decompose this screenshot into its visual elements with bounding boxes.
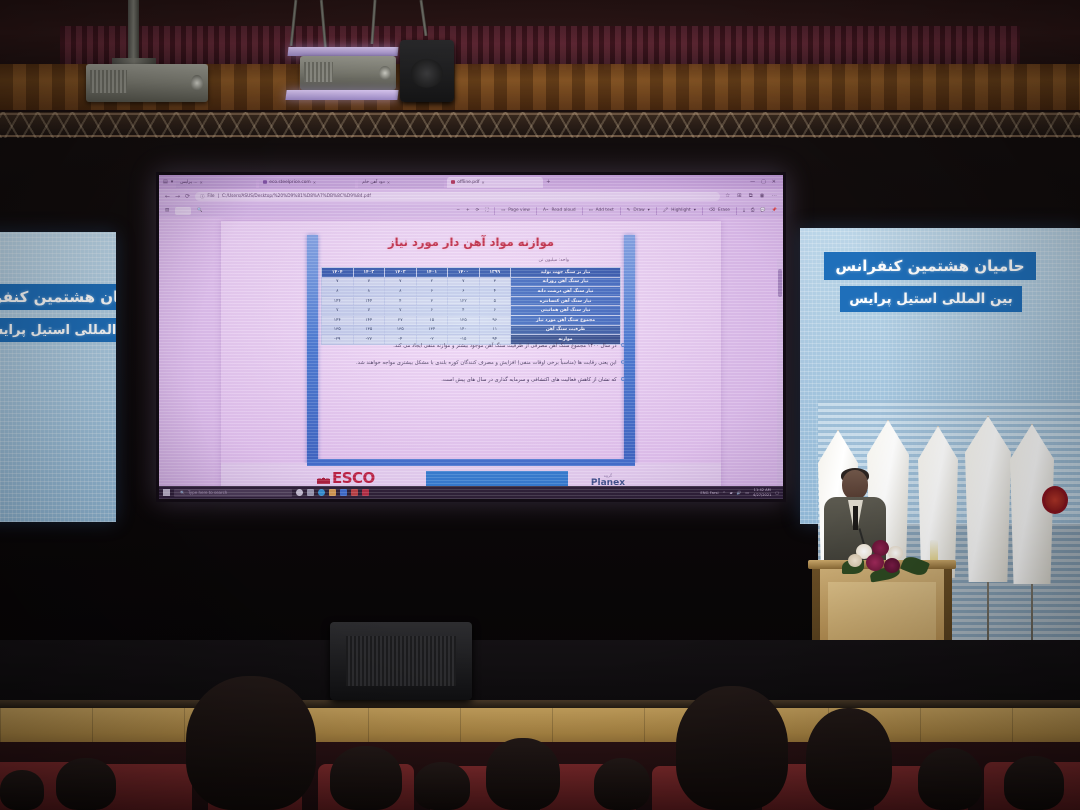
table-cell: ۱۲۵ — [448, 315, 480, 325]
table-cell: ۷ — [322, 306, 354, 316]
table-cell: ۱۴۴ — [322, 296, 354, 306]
flower-arrangement — [840, 538, 932, 580]
table-row-label: ظرفیت سنگ آهن — [511, 325, 621, 335]
tab-1-label: eco.steelprice.com — [269, 180, 310, 185]
highlight-icon: 🖍 — [663, 208, 668, 213]
bullet-text: در سال ۱۴۰۰ مجموع سنگ آهن مصرفی از ظرفیت… — [393, 341, 616, 351]
table-cell: ۱۲۲ — [448, 296, 480, 306]
page-view-label: Page view — [508, 208, 530, 213]
audience-head — [56, 758, 116, 810]
system-tray: ENG Farsi ^ ▰ 🔊 ▭ 11:42 AM 4/27/2021 ▢ — [700, 488, 779, 496]
tab-1-close-icon[interactable]: ✕ — [313, 180, 316, 185]
bullet-marker-icon — [621, 360, 625, 364]
window-menu-icon[interactable]: ▤ — [163, 179, 168, 185]
more-icon[interactable]: ⋯ — [772, 193, 778, 200]
pdf-erase-button[interactable]: ⌫ Erase — [709, 208, 730, 213]
table-cell: ۲۷ — [385, 315, 417, 325]
led-banner-left: حامیان هشتمین کنفرانس بین المللی استیل پ… — [0, 232, 116, 522]
pdf-page-number-input[interactable] — [175, 207, 191, 215]
stage-edge — [0, 700, 1080, 708]
table-cell: ۷ — [385, 277, 417, 287]
tab-3-label: offline.pdf — [457, 180, 479, 185]
taskbar-clock[interactable]: 11:42 AM 4/27/2021 — [753, 488, 771, 496]
audience-head — [0, 770, 44, 810]
tray-language-label[interactable]: ENG Farsi — [700, 490, 718, 495]
ceiling-projector-left — [86, 64, 208, 102]
url-text: C:/Users/ASUS/Desktop/%20%D9%81%D8%A7%DB… — [222, 194, 371, 199]
add-text-icon: ▭ — [589, 208, 593, 213]
pdf-rotate-button[interactable]: ⟳ — [476, 208, 480, 213]
pdf-toolbar: ▤ 🔍 − + ⟳ ⛶ ▭ Page view — [159, 204, 783, 217]
projected-desktop: ▤ ▾ پرایس ... ✕ eco.steelprice.com ✕ دود… — [159, 175, 783, 499]
windows-taskbar: 🔍 Type here to search ENG Farsi ^ ▰ 🔊 ▭ — [159, 486, 783, 499]
audience-head — [918, 748, 982, 810]
slide-footer-accent — [307, 459, 635, 466]
audience-head — [486, 738, 560, 810]
table-row-label: نیاز سنگ آهن کنسانتره — [511, 296, 621, 306]
table-cell: ۸ — [322, 287, 354, 297]
forward-button[interactable]: → — [175, 193, 180, 200]
table-cell: ۱۴۴ — [353, 296, 385, 306]
table-cell: ۷ — [448, 277, 480, 287]
url-input[interactable]: ⓘ File | C:/Users/ASUS/Desktop/%20%D9%81… — [195, 192, 720, 201]
led-banner-right-line2: بین المللی استیل پرایس — [840, 286, 1022, 312]
print-icon[interactable]: ⎙ — [751, 208, 754, 213]
extensions-icon[interactable]: ⧉ — [749, 193, 753, 200]
tab-2-close-icon[interactable]: ✕ — [387, 180, 390, 185]
chevron-up-icon[interactable]: ^ — [723, 490, 726, 495]
audience-head — [1004, 756, 1064, 810]
table-cell: ۷ — [353, 306, 385, 316]
file-info-icon: ⓘ — [200, 194, 204, 200]
bullet-marker-icon — [621, 377, 625, 381]
tab-0-label: پرایس ... — [180, 180, 197, 185]
address-bar-icons: ☆ ⊞ ⧉ ◉ ⋯ — [725, 193, 777, 200]
app-icon[interactable] — [351, 489, 358, 496]
browser-tab-1[interactable]: eco.steelprice.com ✕ — [259, 177, 355, 188]
table-cell: ۴ — [479, 287, 511, 297]
pdf-zoom-out-button[interactable]: − — [456, 208, 460, 213]
draw-chevron-down-icon[interactable]: ▾ — [648, 208, 650, 213]
table-row: نیاز سنگ آهن هماتیتی۶۴۶۷۷۷ — [322, 306, 621, 316]
table-cell: ۱۳۵ — [353, 325, 385, 335]
browser-tab-2[interactable]: دود آهن خام ✕ — [358, 177, 444, 188]
pin-icon[interactable]: 📌 — [772, 208, 777, 213]
slide-title: موازنه مواد آهن دار مورد نیاز — [221, 235, 721, 249]
table-header-row: نیاز بر سنگ جهت تولید۱۳۹۹۱۴۰۰۱۴۰۱۱۴۰۲۱۴۰… — [322, 268, 621, 278]
minimize-button[interactable]: — — [750, 179, 755, 185]
browser-tab-3[interactable]: offline.pdf ✕ — [447, 177, 543, 188]
esco-logo-text: ESCO — [332, 469, 375, 487]
maximize-button[interactable]: ▢ — [761, 179, 766, 185]
tab-3-favicon — [451, 180, 455, 184]
table-cell: ۷ — [385, 306, 417, 316]
pdf-add-text-button[interactable]: ▭ Add text — [589, 208, 614, 213]
read-aloud-label: Read aloud — [551, 208, 575, 213]
table-cell: ۷ — [353, 277, 385, 287]
search-input[interactable]: 🔍 Type here to search — [174, 489, 292, 497]
table-cell: ۳ — [479, 277, 511, 287]
audience-head — [330, 746, 402, 810]
table-cell: ۹۶ — [479, 315, 511, 325]
table-row-label: نیاز سنگ آهن هماتیتی — [511, 306, 621, 316]
floor-monitor-grille — [346, 636, 456, 686]
table-row: ظرفیت سنگ آهن۱۱۱۴۰۱۳۴۱۳۵۱۳۵۱۳۵ — [322, 325, 621, 335]
tab-1-favicon — [263, 180, 267, 184]
table-cell: ۴ — [385, 296, 417, 306]
table-row: نیاز سنگ آهن روزانه۳۷۲۷۷۷ — [322, 277, 621, 287]
pdf-sidebar-toggle-icon[interactable]: ▤ — [165, 208, 169, 213]
table-cell: ۴ — [448, 306, 480, 316]
profile-icon[interactable]: ◉ — [760, 193, 765, 200]
audience-head — [676, 686, 788, 810]
table-cell: ۲ — [416, 277, 448, 287]
explorer-icon[interactable] — [329, 489, 336, 496]
url-separator: | — [218, 194, 219, 199]
pdf-zoom-in-button[interactable]: + — [466, 208, 470, 213]
notifications-icon[interactable]: ▢ — [775, 490, 779, 495]
table-cell: ۱۵ — [416, 315, 448, 325]
highlight-label: Highlight — [671, 208, 690, 213]
ceiling-projector-right — [300, 56, 396, 90]
highlight-chevron-down-icon[interactable]: ▾ — [694, 208, 696, 213]
pdf-find-icon[interactable]: 🔍 — [197, 208, 202, 213]
draw-icon: ✎ — [627, 208, 631, 213]
store-icon[interactable] — [340, 489, 347, 496]
presentation-slide: موازنه مواد آهن دار مورد نیاز واحد: میلی… — [221, 221, 721, 499]
pdf-read-aloud-button[interactable]: A⌁ Read aloud — [543, 208, 576, 213]
table-row: نیاز سنگ آهن کنسانتره۵۱۲۲۳۴۱۴۴۱۴۴ — [322, 296, 621, 306]
read-aloud-icon: A⌁ — [543, 208, 549, 213]
crown-icon — [317, 473, 330, 484]
table-cell: ۸ — [385, 287, 417, 297]
table-cell: ۱۳۴ — [416, 325, 448, 335]
browser-tab-0[interactable]: پرایس ... ✕ — [176, 177, 256, 188]
audience-head — [806, 708, 892, 810]
table-header-year: ۱۴۰۱ — [416, 268, 448, 278]
table-row: مجموع سنگ آهن مورد نیاز۹۶۱۲۵۱۵۲۷۱۴۴۱۴۴ — [322, 315, 621, 325]
network-icon[interactable]: ▰ — [730, 490, 733, 495]
audience-head — [186, 676, 316, 810]
table-cell: ۱۴۴ — [353, 315, 385, 325]
slide-unit-note: واحد: میلیون تن — [539, 258, 570, 263]
table-cell: ۱۱ — [479, 325, 511, 335]
uv-light-bar-top — [288, 47, 399, 56]
comment-icon[interactable]: 💬 — [760, 208, 765, 213]
uv-light-bar-bottom — [285, 90, 398, 100]
close-button[interactable]: ✕ — [772, 179, 776, 185]
table-cell: ۱۳۵ — [322, 325, 354, 335]
tab-3-close-icon[interactable]: ✕ — [481, 180, 484, 185]
table-header-year: ۱۴۰۲ — [385, 268, 417, 278]
table-cell: ۱۳۵ — [385, 325, 417, 335]
led-banner-left-line1: حامیان هشتمین کنفرانس — [0, 284, 116, 310]
task-view-icon[interactable] — [307, 489, 314, 496]
clock-time: 11:42 AM — [753, 488, 771, 492]
hanging-loudspeaker — [400, 40, 454, 102]
table-header-year: ۱۴۰۰ — [448, 268, 480, 278]
tab-2-label: دود آهن خام — [362, 180, 384, 185]
table-row-label: نیاز سنگ آهن درشت دانه — [511, 287, 621, 297]
projection-screen: ▤ ▾ پرایس ... ✕ eco.steelprice.com ✕ دود… — [156, 172, 786, 502]
table-cell: ۶ — [448, 287, 480, 297]
scrollbar-thumb[interactable] — [778, 269, 782, 297]
iron-assoc-emblem — [1042, 486, 1068, 514]
pdf-icon[interactable] — [362, 489, 369, 496]
table-cell: ۵ — [479, 296, 511, 306]
battery-icon[interactable]: ▭ — [745, 490, 749, 495]
table-header-year: ۱۴۰۴ — [322, 268, 354, 278]
new-tab-button[interactable]: + — [546, 179, 550, 185]
pdf-fit-button[interactable]: ⛶ — [485, 208, 488, 213]
bullet-text: که نشان از کاهش فعالیت های اکتشافی و سرم… — [441, 375, 616, 385]
tab-search-icon[interactable]: ▾ — [171, 179, 174, 185]
browser-tabstrip: ▤ ▾ پرایس ... ✕ eco.steelprice.com ✕ دود… — [159, 175, 783, 189]
table-cell: ۱۴۰ — [448, 325, 480, 335]
reload-button[interactable]: ⟳ — [185, 193, 190, 200]
pdf-highlight-button[interactable]: 🖍 Highlight ▾ — [663, 208, 696, 213]
audience-head — [594, 758, 650, 810]
table-cell: ۳ — [416, 296, 448, 306]
search-placeholder: Type here to search — [188, 490, 227, 495]
table-header-label: نیاز بر سنگ جهت تولید — [511, 268, 621, 278]
presenter-head — [842, 470, 868, 500]
start-button-icon[interactable] — [163, 489, 170, 496]
slide-bullet-list: در سال ۱۴۰۰ مجموع سنگ آهن مصرفی از ظرفیت… — [317, 341, 625, 392]
table-header-year: ۱۴۰۳ — [353, 268, 385, 278]
table-cell: ۸ — [353, 287, 385, 297]
presenter-tie — [853, 506, 858, 530]
table-header-year: ۱۳۹۹ — [479, 268, 511, 278]
projector-mount-pole — [128, 0, 139, 62]
back-button[interactable]: ← — [165, 193, 170, 200]
bullet-marker-icon — [621, 343, 625, 347]
collections-icon[interactable]: ⊞ — [737, 193, 742, 200]
browser-window: ▤ ▾ پرایس ... ✕ eco.steelprice.com ✕ دود… — [159, 175, 783, 217]
search-icon: 🔍 — [180, 490, 185, 495]
favorite-icon[interactable]: ☆ — [725, 193, 730, 200]
list-item: این یعنی رقابت ها (مناسباً برخی اوقات من… — [317, 358, 625, 368]
cortana-icon[interactable] — [296, 489, 303, 496]
erase-label: Erase — [718, 208, 730, 213]
slide-accent-bar-right — [624, 235, 635, 481]
tab-0-close-icon[interactable]: ✕ — [200, 180, 203, 185]
audience-head — [414, 762, 470, 810]
list-item: در سال ۱۴۰۰ مجموع سنگ آهن مصرفی از ظرفیت… — [317, 341, 625, 351]
table-row: نیاز سنگ آهن درشت دانه۴۶۶۸۸۸ — [322, 287, 621, 297]
bullet-text: این یعنی رقابت ها (مناسباً برخی اوقات من… — [356, 358, 617, 368]
led-banner-right-line1: حامیان هشتمین کنفرانس — [824, 252, 1036, 280]
add-text-label: Add text — [596, 208, 614, 213]
table-row-label: نیاز سنگ آهن روزانه — [511, 277, 621, 287]
pdf-draw-button[interactable]: ✎ Draw ▾ — [627, 208, 650, 213]
save-icon[interactable]: ⤓ — [743, 208, 745, 213]
table-cell: ۷ — [322, 277, 354, 287]
pdf-page-viewport[interactable]: موازنه مواد آهن دار مورد نیاز واحد: میلی… — [159, 217, 783, 499]
list-item: که نشان از کاهش فعالیت های اکتشافی و سرم… — [317, 375, 625, 385]
esco-logo: ESCO — [317, 469, 375, 487]
draw-label: Draw — [633, 208, 644, 213]
lighting-truss — [0, 112, 1080, 138]
iron-balance-table: نیاز بر سنگ جهت تولید۱۳۹۹۱۴۰۰۱۴۰۱۱۴۰۲۱۴۰… — [321, 267, 621, 345]
window-controls: — ▢ ✕ — [750, 179, 779, 185]
browser-address-bar: ← → ⟳ ⓘ File | C:/Users/ASUS/Desktop/%20… — [159, 189, 783, 204]
erase-icon: ⌫ — [709, 208, 715, 213]
edge-icon[interactable] — [318, 489, 325, 496]
clock-date: 4/27/2021 — [753, 493, 771, 497]
table-cell: ۱۴۴ — [322, 315, 354, 325]
pdf-vertical-scrollbar[interactable] — [777, 259, 783, 492]
conference-photo: حامیان هشتمین کنفرانس بین المللی استیل پ… — [0, 0, 1080, 810]
table-row-label: مجموع سنگ آهن مورد نیاز — [511, 315, 621, 325]
page-view-icon: ▭ — [501, 208, 505, 213]
pdf-page-view-button[interactable]: ▭ Page view — [501, 208, 530, 213]
url-scheme-label: File — [207, 194, 214, 199]
volume-icon[interactable]: 🔊 — [737, 490, 742, 495]
table-cell: ۶ — [416, 306, 448, 316]
table-cell: ۶ — [479, 306, 511, 316]
led-banner-left-line2: بین المللی استیل پرایس — [0, 318, 116, 342]
table-cell: ۶ — [416, 287, 448, 297]
